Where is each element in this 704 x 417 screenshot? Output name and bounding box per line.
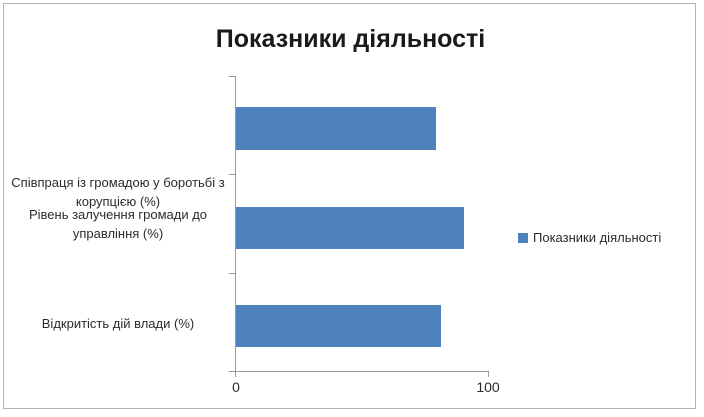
legend-entry-label: Показники діяльності <box>533 230 661 245</box>
y-axis-label-2: Відкритість дій влади (%) <box>8 314 228 333</box>
bar-cooperation-anticorruption <box>236 107 436 150</box>
y-axis-tick-top <box>229 76 235 77</box>
x-axis-tick-label-0: 0 <box>216 379 256 395</box>
plot-area <box>232 76 489 371</box>
y-axis-category-labels: Співпраця із громадою у боротьбі з коруп… <box>4 76 232 371</box>
y-axis-tick-1 <box>229 174 235 175</box>
chart-container: Показники діяльності Співпраця із громад… <box>0 0 704 417</box>
y-axis-label-1: Рівень залучення громади до управління (… <box>8 205 228 243</box>
x-axis-tick-0 <box>235 371 236 377</box>
legend: Показники діяльності <box>518 230 661 245</box>
legend-color-swatch <box>518 233 528 243</box>
bar-community-involvement <box>236 207 464 249</box>
x-axis-line <box>235 371 489 372</box>
x-axis-tick-100 <box>488 371 489 377</box>
y-axis-tick-2 <box>229 273 235 274</box>
x-axis-tick-label-100: 100 <box>468 379 508 395</box>
chart-frame: Показники діяльності Співпраця із громад… <box>3 3 696 409</box>
chart-title: Показники діяльності <box>4 24 697 54</box>
bar-openness-of-authorities <box>236 305 441 347</box>
